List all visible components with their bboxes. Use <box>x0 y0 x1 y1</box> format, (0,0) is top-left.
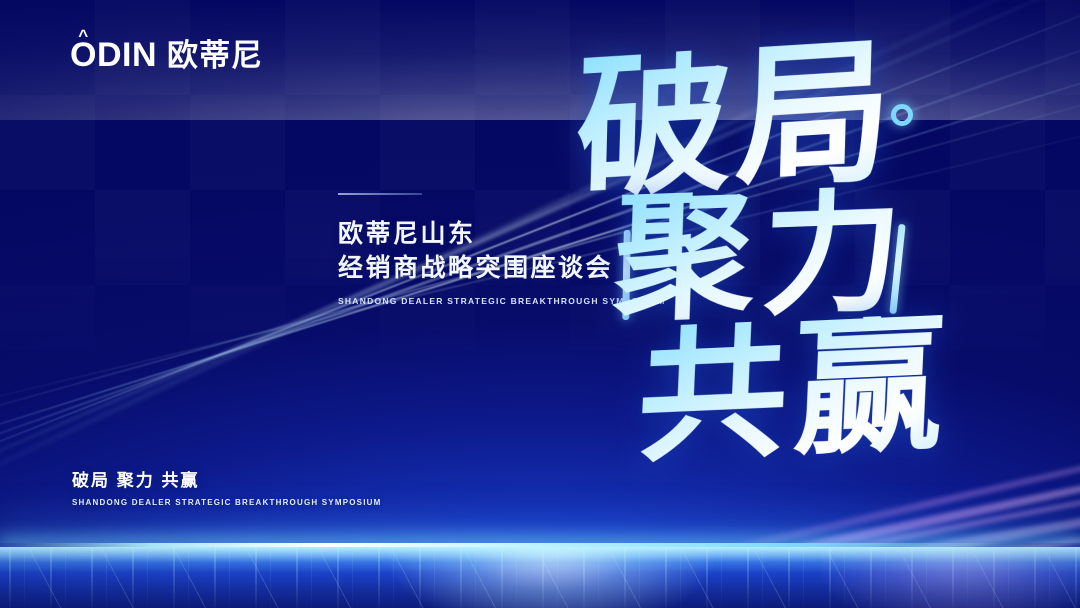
logo-chinese-text: 欧蒂尼 <box>167 40 263 71</box>
reflective-floor <box>0 547 1080 608</box>
slogan-english: SHANDONG DEALER STRATEGIC BREAKTHROUGH S… <box>72 498 381 507</box>
degree-circle-accent-icon <box>891 104 913 126</box>
logo-wordmark: ^ O DIN <box>70 38 157 72</box>
logo-din-text: DIN <box>97 38 157 72</box>
title-divider-rule <box>338 193 422 195</box>
headline-line-3: 共赢 <box>635 313 953 465</box>
logo-circumflex-icon: ^ <box>78 27 88 44</box>
event-backdrop-canvas: ^ O DIN 欧蒂尼 欧蒂尼山东 经销商战略突围座谈会 SHANDONG DE… <box>0 0 1080 608</box>
headline-calligraphy: 破局 聚力 共赢 <box>566 48 986 468</box>
brand-logo: ^ O DIN 欧蒂尼 <box>70 38 263 72</box>
logo-o-letter: ^ O <box>70 38 97 72</box>
slogan-chinese: 破局 聚力 共赢 <box>72 466 381 491</box>
bottom-slogan-block: 破局 聚力 共赢 SHANDONG DEALER STRATEGIC BREAK… <box>72 466 381 507</box>
